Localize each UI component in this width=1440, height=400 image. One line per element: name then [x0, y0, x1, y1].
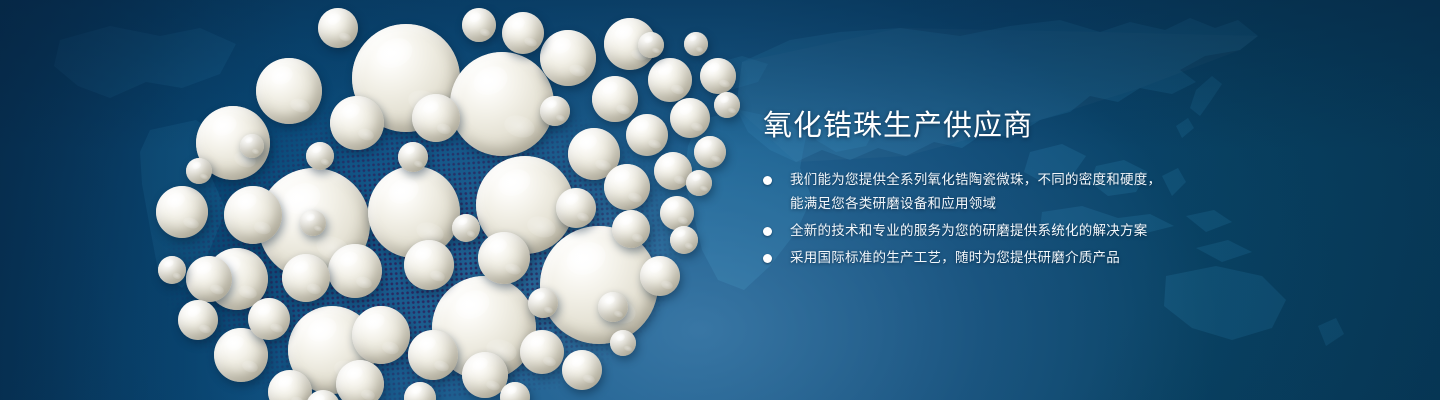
bead [158, 256, 186, 284]
bead [638, 32, 664, 58]
bead [318, 8, 358, 48]
bead [186, 158, 212, 184]
bead [660, 196, 694, 230]
bead [648, 58, 692, 102]
bead [604, 164, 650, 210]
bead [352, 306, 410, 364]
bead [256, 58, 322, 124]
bead [540, 30, 596, 86]
bead [686, 170, 712, 196]
bead [598, 292, 628, 322]
list-item: 采用国际标准的生产工艺，随时为您提供研磨介质产品 [763, 246, 1283, 270]
list-item-line1: 全新的技术和专业的服务为您的研磨提供系统化的解决方案 [790, 223, 1148, 238]
bullet-dot-icon [763, 254, 772, 263]
bead [306, 142, 334, 170]
bullet-dot-icon [763, 176, 772, 185]
bead [300, 210, 326, 236]
list-item-line2: 能满足您各类研磨设备和应用领域 [790, 192, 1283, 216]
bead [248, 298, 290, 340]
bead [404, 240, 454, 290]
bead [178, 300, 218, 340]
bead [398, 142, 428, 172]
bead [528, 288, 558, 318]
bead [224, 186, 282, 244]
banner-content: 氧化锆珠生产供应商 我们能为您提供全系列氧化锆陶瓷微珠，不同的密度和硬度， 能满… [763, 106, 1283, 273]
bead [330, 96, 384, 150]
bead [612, 210, 650, 248]
bead [700, 58, 736, 94]
bead [670, 226, 698, 254]
bead [556, 188, 596, 228]
list-item: 全新的技术和专业的服务为您的研磨提供系统化的解决方案 [763, 219, 1283, 243]
bead [404, 382, 436, 400]
bead [156, 186, 208, 238]
bead [626, 114, 668, 156]
bead [520, 330, 564, 374]
bead [670, 98, 710, 138]
bead [336, 360, 384, 400]
bead [478, 232, 530, 284]
bead [694, 136, 726, 168]
bead [450, 52, 554, 156]
zirconia-beads-cluster [0, 0, 760, 400]
list-item: 我们能为您提供全系列氧化锆陶瓷微珠，不同的密度和硬度， 能满足您各类研磨设备和应… [763, 168, 1283, 216]
bead [328, 244, 382, 298]
page-title: 氧化锆珠生产供应商 [763, 106, 1283, 146]
bead [610, 330, 636, 356]
hero-banner: 氧化锆珠生产供应商 我们能为您提供全系列氧化锆陶瓷微珠，不同的密度和硬度， 能满… [0, 0, 1440, 400]
bead [502, 12, 544, 54]
bead [412, 94, 460, 142]
list-item-line1: 我们能为您提供全系列氧化锆陶瓷微珠，不同的密度和硬度， [790, 172, 1161, 187]
bead [540, 96, 570, 126]
bead [408, 330, 458, 380]
bead [640, 256, 680, 296]
bead [462, 8, 496, 42]
bead [562, 350, 602, 390]
bead [186, 256, 232, 302]
bead [452, 214, 480, 242]
bullet-dot-icon [763, 227, 772, 236]
bead [714, 92, 740, 118]
bead [282, 254, 330, 302]
bead [500, 382, 530, 400]
feature-list: 我们能为您提供全系列氧化锆陶瓷微珠，不同的密度和硬度， 能满足您各类研磨设备和应… [763, 168, 1283, 270]
bead [684, 32, 708, 56]
bead [240, 134, 264, 158]
bead [592, 76, 638, 122]
list-item-line1: 采用国际标准的生产工艺，随时为您提供研磨介质产品 [790, 250, 1120, 265]
